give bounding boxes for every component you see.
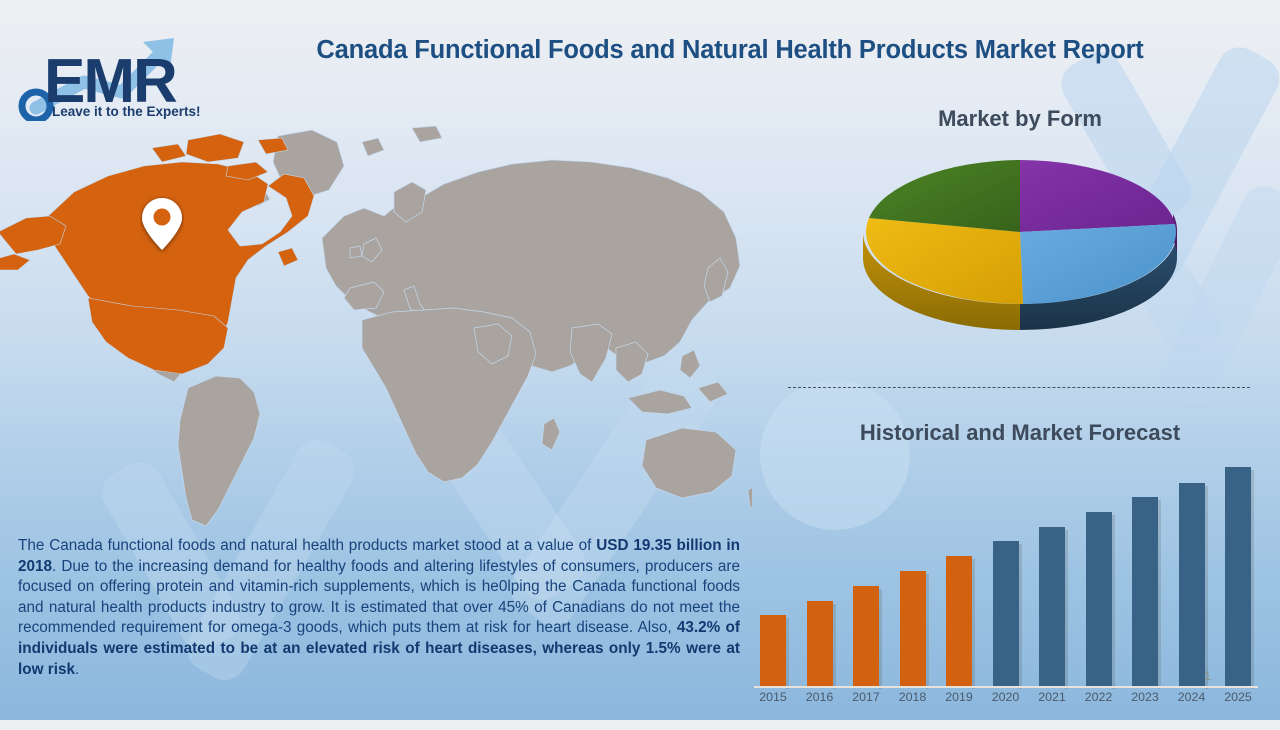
logo-tagline: Leave it to the Experts! (52, 104, 201, 119)
pie-chart-title: Market by Form (790, 106, 1250, 132)
emr-logo: EMR Leave it to the Experts! (14, 26, 204, 121)
bar-2022 (1086, 512, 1112, 686)
x-label-2023: 2023 (1122, 690, 1168, 704)
pin-inner-circle-icon (154, 209, 171, 226)
stray-axis-artifact: 1 (1204, 668, 1211, 683)
bar-shadow (1205, 486, 1208, 689)
page-title: Canada Functional Foods and Natural Heal… (215, 36, 1245, 65)
bar-2020 (993, 541, 1019, 686)
bar-2024 (1179, 483, 1205, 686)
x-label-2024: 2024 (1169, 690, 1215, 704)
x-label-2020: 2020 (983, 690, 1029, 704)
x-label-2015: 2015 (750, 690, 796, 704)
section-divider (788, 387, 1250, 388)
bar-2019 (946, 556, 972, 686)
market-by-form-pie-chart (855, 140, 1185, 355)
bar-plot-area (752, 440, 1262, 686)
bar-shadow (833, 604, 836, 689)
bar-2023 (1132, 497, 1158, 686)
summary-paragraph: The Canada functional foods and natural … (18, 536, 740, 680)
x-label-2022: 2022 (1076, 690, 1122, 704)
bar-shadow (1065, 530, 1068, 689)
map-location-pin (140, 196, 184, 254)
bar-shadow (972, 559, 975, 689)
bar-2018 (900, 571, 926, 686)
world-map (0, 120, 752, 540)
x-label-2019: 2019 (936, 690, 982, 704)
bar-2015 (760, 615, 786, 686)
bar-2016 (807, 601, 833, 686)
historical-forecast-bar-chart: 1 20152016201720182019202020212022202320… (752, 440, 1262, 715)
bar-shadow (1158, 500, 1161, 689)
x-label-2021: 2021 (1029, 690, 1075, 704)
bar-2017 (853, 586, 879, 686)
bar-2021 (1039, 527, 1065, 686)
x-label-2016: 2016 (797, 690, 843, 704)
bar-shadow (1251, 470, 1254, 689)
x-label-2017: 2017 (843, 690, 889, 704)
bar-shadow (786, 618, 789, 689)
x-label-2025: 2025 (1215, 690, 1261, 704)
bar-shadow (879, 589, 882, 689)
x-axis-line (754, 686, 1258, 688)
bar-2025 (1225, 467, 1251, 686)
pie-slice-purple (1020, 160, 1175, 232)
x-label-2018: 2018 (890, 690, 936, 704)
x-axis-labels: 2015201620172018201920202021202220232024… (752, 690, 1262, 714)
bar-shadow (1112, 515, 1115, 689)
bar-shadow (926, 574, 929, 689)
bar-shadow (1019, 544, 1022, 689)
